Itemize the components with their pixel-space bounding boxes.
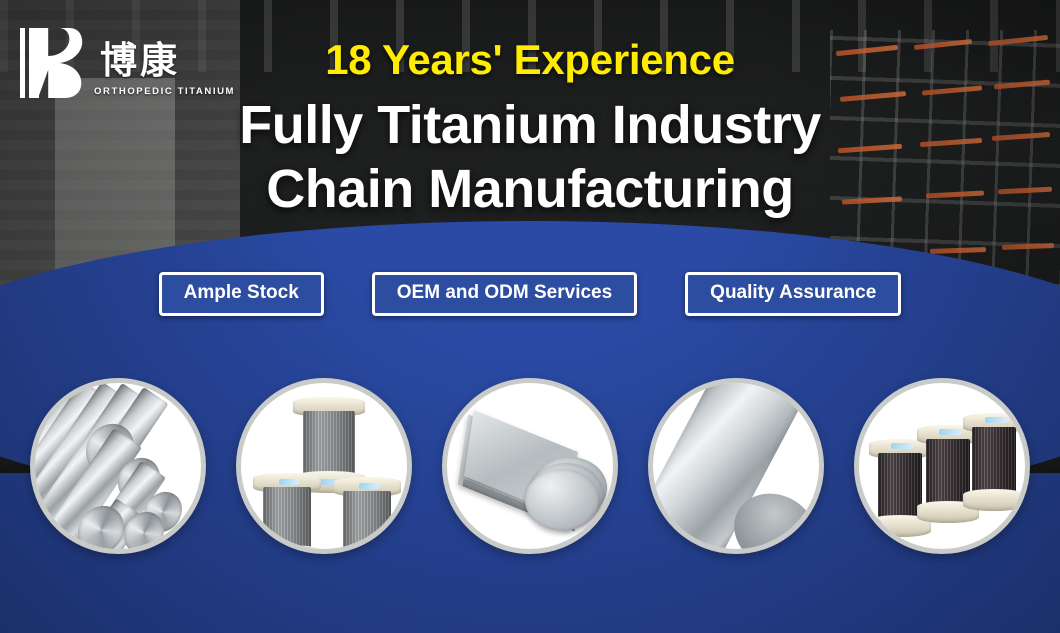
product-circle-titanium-plates-discs[interactable] bbox=[442, 378, 618, 554]
kb-monogram-icon bbox=[18, 26, 90, 100]
titanium-fine-wire-spools-illustration bbox=[859, 383, 1025, 549]
titanium-wire-spools-illustration bbox=[241, 383, 407, 549]
brand-logo[interactable]: 博康 ORTHOPEDIC TITANIUM bbox=[18, 26, 180, 100]
promo-banner: 博康 ORTHOPEDIC TITANIUM 18 Years' Experie… bbox=[0, 0, 1060, 633]
brand-chinese-name: 博康 bbox=[100, 42, 180, 79]
product-circle-row bbox=[0, 378, 1060, 554]
feature-badge-row: Ample Stock OEM and ODM Services Quality… bbox=[0, 272, 1060, 316]
brand-tagline: ORTHOPEDIC TITANIUM bbox=[94, 86, 235, 97]
titanium-ingot-illustration bbox=[653, 383, 819, 549]
badge-oem-odm[interactable]: OEM and ODM Services bbox=[372, 272, 637, 316]
titanium-bars-illustration bbox=[35, 383, 201, 549]
product-circle-titanium-fine-wire-spools[interactable] bbox=[854, 378, 1030, 554]
product-circle-titanium-ingot[interactable] bbox=[648, 378, 824, 554]
titanium-plates-discs-illustration bbox=[447, 383, 613, 549]
badge-quality-assurance[interactable]: Quality Assurance bbox=[685, 272, 901, 316]
badge-ample-stock[interactable]: Ample Stock bbox=[159, 272, 324, 316]
product-circle-titanium-bars[interactable] bbox=[30, 378, 206, 554]
product-circle-titanium-wire-spools[interactable] bbox=[236, 378, 412, 554]
